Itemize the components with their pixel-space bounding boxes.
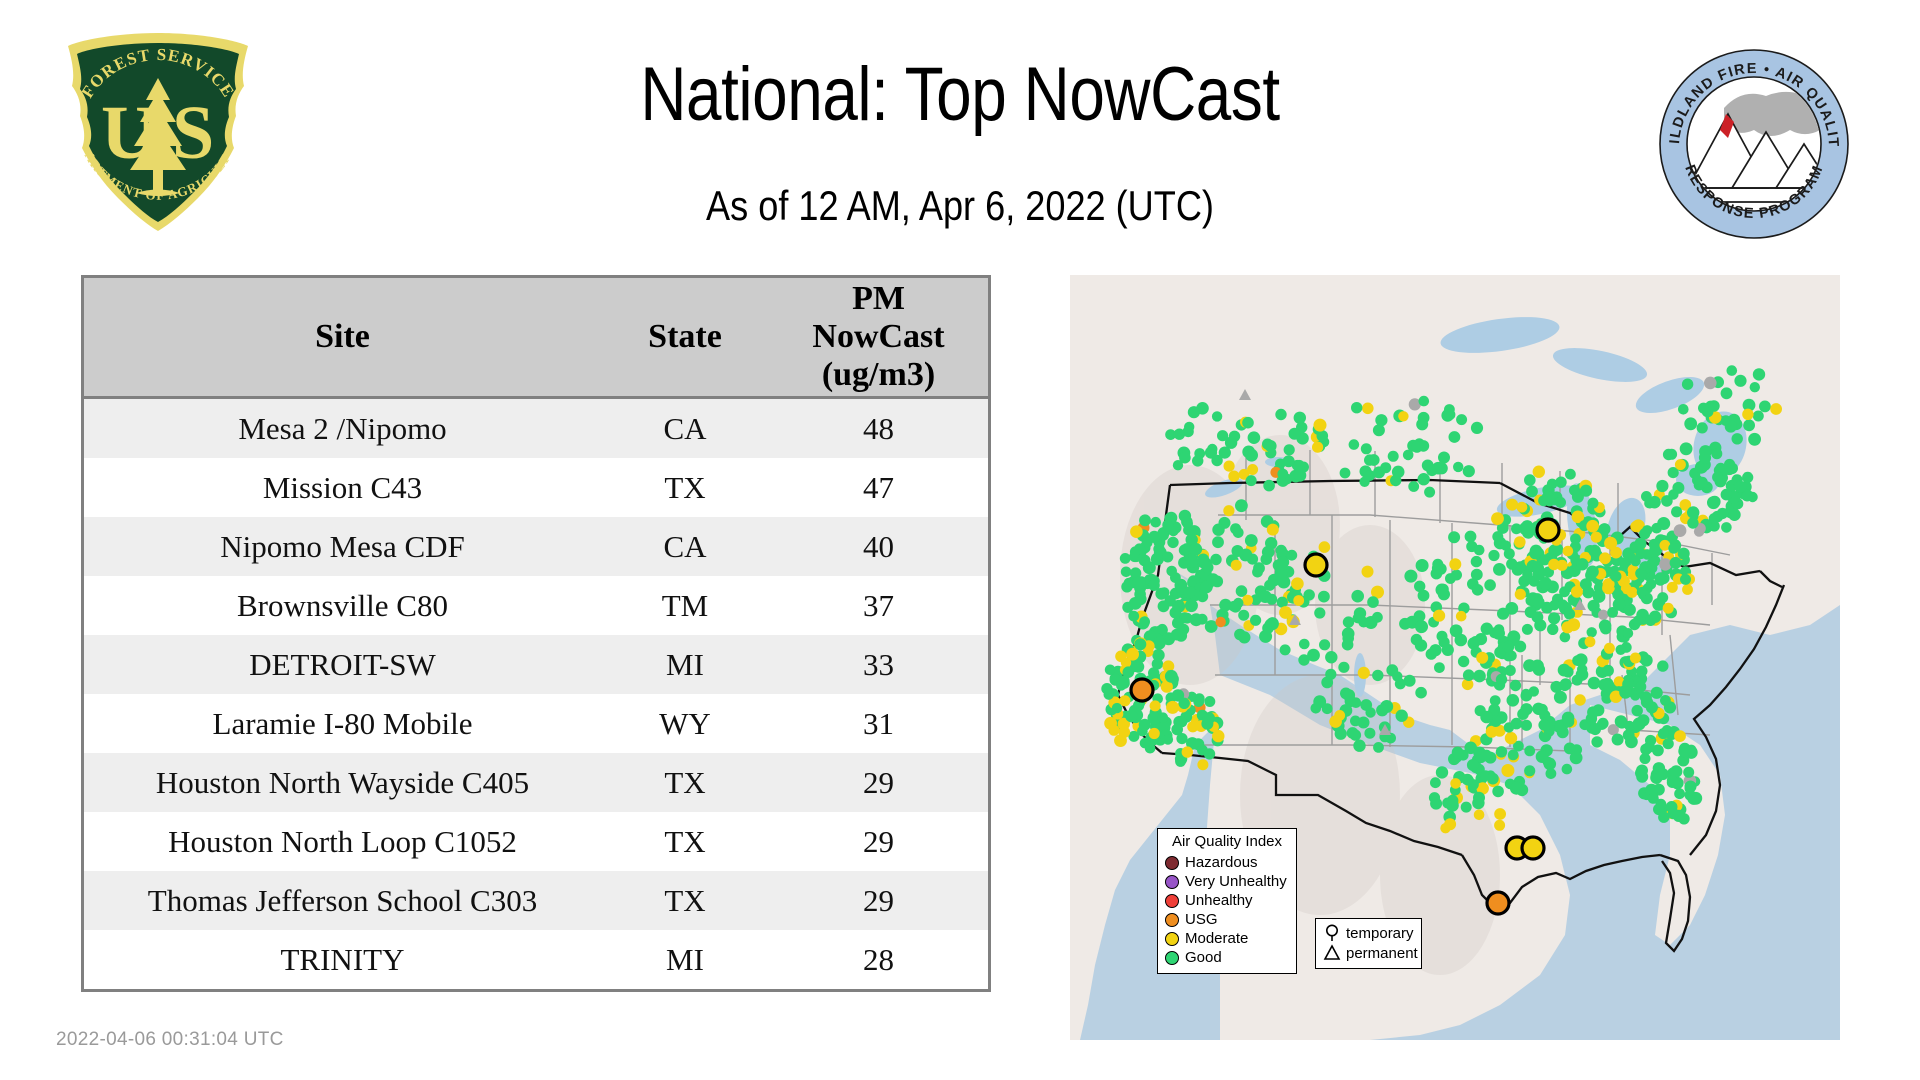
aqi-site-dot bbox=[1576, 668, 1589, 681]
aqi-site-dot bbox=[1140, 738, 1151, 749]
aqi-swatch-very-unhealthy bbox=[1165, 875, 1179, 889]
aqi-site-dot bbox=[1697, 477, 1708, 488]
aqi-site-dot bbox=[1204, 748, 1215, 759]
top-site-marker[interactable] bbox=[1487, 892, 1509, 914]
aqi-site-dot bbox=[1649, 611, 1661, 623]
aqi-site-dot bbox=[1589, 545, 1601, 557]
aqi-site-dot bbox=[1171, 724, 1183, 736]
aqi-site-dot bbox=[1314, 607, 1325, 618]
aqi-site-dot bbox=[1165, 670, 1178, 683]
aqi-site-dot bbox=[1558, 599, 1568, 609]
aqi-site-dot bbox=[1322, 703, 1333, 714]
aqi-site-dot bbox=[1395, 678, 1406, 689]
site-state: TM bbox=[601, 576, 769, 635]
aqi-site-dot bbox=[1163, 734, 1173, 744]
top-site-marker[interactable] bbox=[1131, 679, 1153, 701]
aqi-site-dot bbox=[1434, 662, 1445, 673]
aqi-site-dot bbox=[1759, 401, 1771, 413]
aqi-site-dot bbox=[1539, 577, 1552, 590]
aqi-site-dot bbox=[1267, 524, 1279, 536]
aqi-site-dot bbox=[1474, 810, 1485, 821]
aqi-site-dot bbox=[1197, 591, 1208, 602]
aqi-site-dot bbox=[1183, 586, 1195, 598]
aqi-site-dot bbox=[1604, 537, 1617, 550]
aqi-legend-row: Good bbox=[1165, 948, 1289, 967]
aqi-site-dot bbox=[1119, 695, 1130, 706]
aqi-site-dot bbox=[1721, 489, 1733, 501]
aqi-site-dot bbox=[1671, 506, 1682, 517]
aqi-site-dot bbox=[1644, 741, 1655, 752]
aqi-legend-row: USG bbox=[1165, 910, 1289, 929]
aqi-site-dot bbox=[1197, 759, 1208, 770]
legend-label-temporary: temporary bbox=[1346, 925, 1414, 942]
site-state: TX bbox=[601, 753, 769, 812]
aqi-site-dot bbox=[1709, 513, 1719, 523]
aqi-site-dot bbox=[1668, 489, 1678, 499]
site-state: TX bbox=[601, 812, 769, 871]
aqi-site-dot bbox=[1238, 631, 1250, 643]
site-state: CA bbox=[601, 398, 769, 459]
aqi-site-dot bbox=[1570, 534, 1581, 545]
aqi-site-dot bbox=[1263, 480, 1275, 492]
aqi-site-dot bbox=[1252, 567, 1263, 578]
aqi-site-dot bbox=[1494, 808, 1506, 820]
aqi-site-dot bbox=[1362, 566, 1374, 578]
aqi-site-dot bbox=[1437, 631, 1448, 642]
aqi-site-dot bbox=[1543, 757, 1554, 768]
aqi-site-dot bbox=[1657, 660, 1668, 671]
site-name: Mission C43 bbox=[84, 458, 601, 517]
aqi-swatch-good bbox=[1165, 951, 1179, 965]
aqi-site-dot bbox=[1265, 440, 1277, 452]
site-name: TRINITY bbox=[84, 930, 601, 989]
aqi-legend-title: Air Quality Index bbox=[1165, 833, 1289, 850]
aqi-site-dot bbox=[1224, 461, 1235, 472]
aqi-site-dot bbox=[1463, 465, 1475, 477]
aqi-site-dot bbox=[1182, 746, 1193, 757]
site-pm-nowcast: 29 bbox=[769, 812, 988, 871]
aqi-site-dot bbox=[1564, 743, 1576, 755]
aqi-site-dot bbox=[1492, 531, 1503, 542]
aqi-site-dot bbox=[1207, 444, 1217, 454]
aqi-site-dot bbox=[1134, 638, 1146, 650]
aqi-site-dot bbox=[1204, 696, 1215, 707]
pm-header-line3: (ug/m3) bbox=[775, 356, 982, 394]
aqi-site-dot bbox=[1587, 706, 1599, 718]
aqi-site-dot bbox=[1470, 636, 1481, 647]
aqi-site-dot bbox=[1283, 455, 1295, 467]
aqi-site-dot bbox=[1687, 506, 1699, 518]
aqi-site-dot bbox=[1192, 455, 1203, 466]
aqi-site-dot bbox=[1742, 409, 1753, 420]
aqi-site-dot bbox=[1625, 735, 1638, 748]
aqi-site-dot bbox=[1149, 728, 1160, 739]
aqi-site-dot bbox=[1588, 677, 1601, 690]
aqi-site-dot bbox=[1445, 409, 1456, 420]
aqi-site-dot bbox=[1429, 792, 1440, 803]
aqi-site-dot bbox=[1687, 517, 1698, 528]
aqi-legend-label: Moderate bbox=[1185, 930, 1248, 947]
aqi-site-dot bbox=[1408, 481, 1419, 492]
aqi-site-dot bbox=[1261, 553, 1273, 565]
aqi-site-dot bbox=[1186, 556, 1198, 568]
aqi-site-dot bbox=[1388, 451, 1399, 462]
site-pm-nowcast: 29 bbox=[769, 753, 988, 812]
table-row: Mesa 2 /NipomoCA48 bbox=[84, 398, 988, 459]
aqi-site-dot bbox=[1438, 452, 1450, 464]
aqi-site-dot bbox=[1343, 616, 1354, 627]
aqi-site-dot bbox=[1447, 795, 1459, 807]
aqi-site-dot bbox=[1492, 627, 1505, 640]
table-row: Houston North Wayside C405TX29 bbox=[84, 753, 988, 812]
aqi-site-dot bbox=[1115, 651, 1127, 663]
aqi-site-dot bbox=[1599, 620, 1612, 633]
aqi-site-dot bbox=[1511, 523, 1522, 534]
aqi-site-dot bbox=[1750, 382, 1760, 392]
table-body: Mesa 2 /NipomoCA48Mission C43TX47Nipomo … bbox=[84, 398, 988, 990]
aqi-site-dot bbox=[1748, 433, 1761, 446]
aqi-site-dot bbox=[1121, 567, 1132, 578]
aqi-site-dot bbox=[1228, 471, 1239, 482]
aqi-site-dot bbox=[1235, 499, 1248, 512]
aqi-site-dot bbox=[1472, 584, 1484, 596]
aqi-site-dot bbox=[1148, 579, 1160, 591]
aqi-site-dot bbox=[1223, 505, 1234, 516]
column-header-state: State bbox=[601, 278, 769, 398]
aqi-legend-label: Unhealthy bbox=[1185, 892, 1253, 909]
aqi-site-dot bbox=[1294, 412, 1306, 424]
aqi-site-dot bbox=[1636, 666, 1647, 677]
aqi-site-dot bbox=[1360, 699, 1372, 711]
aqi-site-dot bbox=[1265, 537, 1277, 549]
aqi-site-dot bbox=[1742, 491, 1753, 502]
aqi-site-dot bbox=[1486, 726, 1498, 738]
aqi-site-dot bbox=[1246, 475, 1257, 486]
aqi-site-dot bbox=[1442, 644, 1454, 656]
aqi-site-dot bbox=[1375, 414, 1387, 426]
aqi-site-dot bbox=[1586, 566, 1599, 579]
aqi-site-dot bbox=[1349, 439, 1360, 450]
aqi-site-dot bbox=[1770, 403, 1782, 415]
aqi-site-dot bbox=[1293, 595, 1304, 606]
site-pm-nowcast: 28 bbox=[769, 930, 988, 989]
aqi-site-dot bbox=[1565, 469, 1576, 480]
aqi-site-dot bbox=[1150, 700, 1161, 711]
column-header-pm-nowcast: PM NowCast (ug/m3) bbox=[769, 278, 988, 398]
aqi-site-dot bbox=[1319, 541, 1331, 553]
aqi-site-dot bbox=[1727, 365, 1738, 376]
aqi-site-dot bbox=[1364, 454, 1375, 465]
aqi-site-dot bbox=[1732, 433, 1743, 444]
aqi-site-dot bbox=[1449, 431, 1461, 443]
aqi-site-dot bbox=[1504, 548, 1515, 559]
aqi-site-dot bbox=[1182, 613, 1193, 624]
aqi-site-dot bbox=[1132, 576, 1145, 589]
aqi-site-dot bbox=[1284, 444, 1295, 455]
aqi-site-dot bbox=[1471, 422, 1483, 434]
aqi-swatch-unhealthy bbox=[1165, 894, 1179, 908]
aqi-site-dot bbox=[1627, 587, 1638, 598]
table-row: Nipomo Mesa CDFCA40 bbox=[84, 517, 988, 576]
site-pm-nowcast: 40 bbox=[769, 517, 988, 576]
aqi-site-dot bbox=[1492, 786, 1504, 798]
aqi-site-dot bbox=[1174, 429, 1185, 440]
aqi-site-dot bbox=[1467, 759, 1479, 771]
aqi-site-dot bbox=[1491, 512, 1504, 525]
aqi-site-dot bbox=[1473, 670, 1486, 683]
aqi-site-dot bbox=[1372, 670, 1383, 681]
pm-header-line1: PM bbox=[775, 280, 982, 318]
aqi-site-dot bbox=[1574, 694, 1585, 705]
aqi-site-dot bbox=[1207, 573, 1220, 586]
aqi-site-dot bbox=[1343, 689, 1355, 701]
aqi-site-dot bbox=[1474, 545, 1485, 556]
aqi-site-dot bbox=[1197, 554, 1209, 566]
aqi-site-dot bbox=[1231, 560, 1242, 571]
aqi-site-dot bbox=[1712, 472, 1723, 483]
aqi-site-dot bbox=[1289, 428, 1301, 440]
aqi-site-dot bbox=[1461, 802, 1472, 813]
aqi-site-dot bbox=[1496, 674, 1507, 685]
aqi-site-dot bbox=[1623, 628, 1633, 638]
aqi-site-dot bbox=[1286, 550, 1297, 561]
table-row: Mission C43TX47 bbox=[84, 458, 988, 517]
aqi-site-dot bbox=[1656, 480, 1668, 492]
aqi-site-dot bbox=[1632, 705, 1643, 716]
aqi-site-dot bbox=[1598, 610, 1608, 620]
aqi-site-dot bbox=[1444, 818, 1456, 830]
aqi-site-dot bbox=[1150, 517, 1161, 528]
aqi-site-dot bbox=[1680, 442, 1693, 455]
aqi-site-dot bbox=[1242, 595, 1253, 606]
aqi-site-dot bbox=[1522, 569, 1532, 579]
aqi-site-dot bbox=[1342, 632, 1354, 644]
aqi-site-dot bbox=[1367, 596, 1379, 608]
aqi-site-dot bbox=[1532, 562, 1544, 574]
aqi-site-dot bbox=[1591, 736, 1602, 747]
circle-outline-icon bbox=[1322, 924, 1342, 942]
aqi-site-dot bbox=[1616, 645, 1626, 655]
pm-header-line2: NowCast bbox=[775, 318, 982, 356]
site-state: MI bbox=[601, 635, 769, 694]
aqi-site-dot bbox=[1599, 552, 1611, 564]
aqi-legend-row: Unhealthy bbox=[1165, 891, 1289, 910]
aqi-site-dot bbox=[1521, 690, 1533, 702]
aqi-site-dot bbox=[1414, 581, 1425, 592]
aqi-site-dot bbox=[1139, 514, 1151, 526]
aqi-site-dot bbox=[1181, 516, 1193, 528]
aqi-site-dot bbox=[1298, 654, 1309, 665]
aqi-site-dot bbox=[1376, 704, 1388, 716]
aqi-site-dot bbox=[1505, 732, 1517, 744]
site-name: Mesa 2 /Nipomo bbox=[84, 398, 601, 459]
aqi-legend-row: Very Unhealthy bbox=[1165, 872, 1289, 891]
aqi-site-dot bbox=[1630, 653, 1641, 664]
aqi-site-dot bbox=[1318, 591, 1330, 603]
aqi-site-dot bbox=[1219, 599, 1232, 612]
aqi-site-dot bbox=[1340, 468, 1351, 479]
aqi-site-dot bbox=[1526, 486, 1538, 498]
aqi-site-dot bbox=[1351, 590, 1364, 603]
aqi-site-dot bbox=[1588, 498, 1599, 509]
aqi-legend-label: Good bbox=[1185, 949, 1222, 966]
aqi-swatch-usg bbox=[1165, 913, 1179, 927]
aqi-site-dot bbox=[1514, 641, 1526, 653]
aqi-site-dot bbox=[1216, 617, 1226, 627]
aqi-site-dot bbox=[1667, 775, 1678, 786]
site-pm-nowcast: 48 bbox=[769, 398, 988, 459]
aqi-site-dot bbox=[1721, 522, 1732, 533]
top-site-marker[interactable] bbox=[1537, 519, 1559, 541]
aqi-site-dot bbox=[1476, 652, 1488, 664]
aqi-site-dot bbox=[1242, 417, 1254, 429]
aqi-site-dot bbox=[1233, 527, 1244, 538]
aqi-legend-label: Hazardous bbox=[1185, 854, 1258, 871]
aqi-site-dot bbox=[1280, 644, 1291, 655]
table-row: DETROIT-SWMI33 bbox=[84, 635, 988, 694]
aqi-legend-label: Very Unhealthy bbox=[1185, 873, 1287, 890]
site-pm-nowcast: 29 bbox=[769, 871, 988, 930]
aqi-site-dot bbox=[1458, 656, 1469, 667]
aqi-site-dot bbox=[1190, 543, 1203, 556]
aqi-site-dot bbox=[1317, 430, 1329, 442]
aqi-site-dot bbox=[1449, 558, 1461, 570]
site-state: MI bbox=[601, 930, 769, 989]
aqi-site-dot bbox=[1148, 667, 1159, 678]
aqi-site-dot bbox=[1725, 420, 1737, 432]
aqi-site-dot bbox=[1193, 696, 1204, 707]
aqi-site-dot bbox=[1416, 418, 1428, 430]
aqi-site-dot bbox=[1361, 443, 1372, 454]
aqi-site-dot bbox=[1484, 579, 1496, 591]
aqi-site-dot bbox=[1639, 528, 1650, 539]
aqi-site-dot bbox=[1538, 495, 1549, 506]
aqi-site-dot bbox=[1657, 768, 1669, 780]
aqi-site-dot bbox=[1471, 556, 1482, 567]
page-subtitle: As of 12 AM, Apr 6, 2022 (UTC) bbox=[134, 183, 1785, 229]
aqi-swatch-hazardous bbox=[1165, 856, 1179, 870]
aqi-site-dot bbox=[1644, 498, 1655, 509]
aqi-site-dot bbox=[1734, 375, 1746, 387]
aqi-site-dot bbox=[1649, 539, 1660, 550]
aqi-site-dot bbox=[1358, 667, 1370, 679]
aqi-site-dot bbox=[1683, 767, 1694, 778]
aqi-site-dot bbox=[1562, 621, 1574, 633]
site-pm-nowcast: 31 bbox=[769, 694, 988, 753]
aqi-site-dot bbox=[1587, 627, 1597, 637]
aqi-site-dot bbox=[1236, 585, 1248, 597]
aqi-site-dot bbox=[1658, 728, 1669, 739]
aqi-site-dot bbox=[1502, 641, 1514, 653]
table-row: Thomas Jefferson School C303TX29 bbox=[84, 871, 988, 930]
aqi-site-dot bbox=[1436, 462, 1448, 474]
aqi-site-dot bbox=[1630, 556, 1640, 566]
aqi-site-dot bbox=[1678, 404, 1689, 415]
legend-label-permanent: permanent bbox=[1346, 945, 1418, 962]
aqi-site-dot bbox=[1559, 680, 1570, 691]
aqi-site-dot bbox=[1630, 521, 1641, 532]
aqi-site-dot bbox=[1411, 441, 1422, 452]
aqi-site-dot bbox=[1613, 598, 1626, 611]
aqi-site-dot bbox=[1524, 746, 1535, 757]
aqi-site-dot bbox=[1538, 719, 1549, 730]
aqi-site-dot bbox=[1562, 764, 1573, 775]
site-name: Nipomo Mesa CDF bbox=[84, 517, 601, 576]
aqi-site-dot bbox=[1130, 525, 1143, 538]
aqi-site-dot bbox=[1432, 559, 1443, 570]
aqi-site-dot bbox=[1212, 536, 1224, 548]
aqi-site-dot bbox=[1465, 531, 1477, 543]
aqi-site-dot bbox=[1203, 712, 1215, 724]
aqi-site-dot bbox=[1640, 753, 1651, 764]
aqi-site-dot bbox=[1529, 547, 1541, 559]
aqi-site-dot bbox=[1727, 463, 1738, 474]
aqi-site-dot bbox=[1533, 597, 1545, 609]
aqi-swatch-moderate bbox=[1165, 932, 1179, 946]
aqi-legend-row: Hazardous bbox=[1165, 853, 1289, 872]
aqi-site-dot bbox=[1635, 538, 1647, 550]
aqi-site-dot bbox=[1456, 611, 1467, 622]
aqi-site-dot bbox=[1586, 520, 1599, 533]
aqi-site-dot bbox=[1452, 747, 1464, 759]
aqi-site-dot bbox=[1591, 532, 1602, 543]
triangle-outline-icon bbox=[1322, 944, 1342, 962]
aqi-site-dot bbox=[1648, 793, 1659, 804]
aqi-site-dot bbox=[1659, 558, 1671, 570]
aqi-site-dot bbox=[1547, 479, 1558, 490]
aqi-site-dot bbox=[1496, 746, 1507, 757]
aqi-site-dot bbox=[1436, 766, 1448, 778]
aqi-site-dot bbox=[1418, 473, 1430, 485]
aqi-site-dot bbox=[1373, 742, 1384, 753]
aqi-site-dot bbox=[1699, 452, 1711, 464]
site-name: Brownsville C80 bbox=[84, 576, 601, 635]
aqi-site-dot bbox=[1166, 566, 1177, 577]
aqi-site-dot bbox=[1490, 695, 1501, 706]
aqi-site-dot bbox=[1709, 496, 1721, 508]
top-nowcast-table: Site State PM NowCast (ug/m3) Mesa 2 /Ni… bbox=[81, 275, 991, 992]
aqi-site-dot bbox=[1163, 520, 1174, 531]
aqi-site-dot bbox=[1416, 559, 1429, 572]
aqi-site-dot bbox=[1753, 368, 1765, 380]
aqi-site-dot bbox=[1580, 485, 1592, 497]
aqi-site-dot bbox=[1450, 624, 1463, 637]
aqi-site-dot bbox=[1351, 402, 1362, 413]
site-name: DETROIT-SW bbox=[84, 635, 601, 694]
aqi-site-dot bbox=[1507, 694, 1520, 707]
aqi-site-dot bbox=[1508, 750, 1519, 761]
top-site-marker[interactable] bbox=[1305, 554, 1327, 576]
aqi-site-dot bbox=[1125, 710, 1138, 723]
aqi-legend-label: USG bbox=[1185, 911, 1218, 928]
top-site-marker[interactable] bbox=[1522, 837, 1544, 859]
aqi-site-dot bbox=[1312, 442, 1323, 453]
site-pm-nowcast: 37 bbox=[769, 576, 988, 635]
aqi-site-dot bbox=[1424, 487, 1435, 498]
aqi-site-dot bbox=[1353, 740, 1365, 752]
aqi-site-dot bbox=[1560, 632, 1571, 643]
aqi-site-dot bbox=[1162, 552, 1173, 563]
aqi-site-dot bbox=[1112, 703, 1122, 713]
site-name: Thomas Jefferson School C303 bbox=[84, 871, 601, 930]
aqi-site-dot bbox=[1515, 589, 1526, 600]
aqi-site-dot bbox=[1335, 728, 1347, 740]
page-title: National: Top NowCast bbox=[154, 55, 1767, 135]
aqi-site-dot bbox=[1167, 537, 1178, 548]
aqi-site-dot bbox=[1663, 738, 1674, 749]
aqi-site-dot bbox=[1510, 782, 1523, 795]
aqi-site-dot bbox=[1329, 715, 1342, 728]
